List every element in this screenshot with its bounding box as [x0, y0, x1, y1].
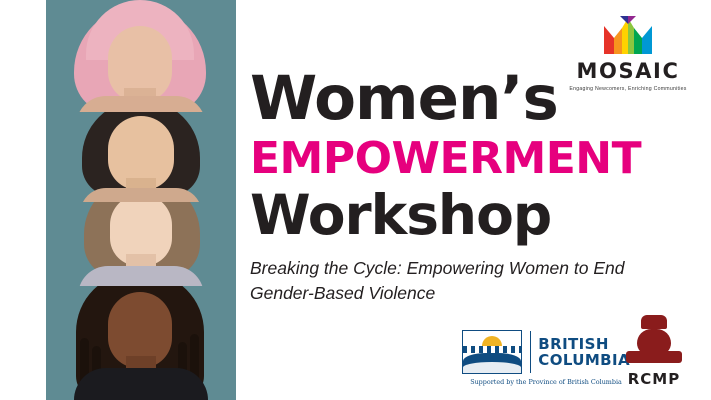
bc-wave-highlight-shape	[463, 362, 521, 373]
bc-support-text: Supported by the Province of British Col…	[462, 378, 630, 386]
rcmp-wordmark: RCMP	[615, 370, 693, 388]
rcmp-logo: RCMP	[615, 315, 693, 388]
shoulders-shape	[80, 188, 202, 202]
rcmp-crest-icon	[615, 315, 693, 369]
poster-canvas: Women’s EMPOWERMENT Workshop Breaking th…	[0, 0, 711, 400]
poster-title-line-2: EMPOWERMENT	[250, 136, 641, 182]
group-portrait-photo	[46, 0, 236, 400]
shoulders-shape	[78, 266, 204, 286]
british-columbia-logo: BRITISH COLUMBIA Supported by the Provin…	[462, 330, 630, 386]
bc-crest-icon	[462, 330, 522, 374]
mosaic-tagline: Engaging Newcomers, Enriching Communitie…	[563, 86, 693, 92]
shoulders-shape	[76, 96, 206, 112]
mosaic-mark-icon	[563, 12, 693, 56]
rcmp-crown-shape	[641, 315, 667, 329]
mosaic-wordmark: MOSAIC	[563, 59, 693, 83]
bc-sun-shape	[482, 336, 502, 346]
poster-title-line-1: Women’s	[250, 68, 558, 130]
content-area: Women’s EMPOWERMENT Workshop Breaking th…	[240, 0, 711, 400]
poster-subtitle: Breaking the Cycle: Empowering Women to …	[250, 256, 680, 306]
shoulders-shape	[74, 368, 208, 400]
poster-title-line-3: Workshop	[250, 186, 551, 244]
portrait-woman-4	[46, 268, 236, 400]
bc-stripes-shape	[463, 346, 521, 353]
mosaic-logo: MOSAIC Engaging Newcomers, Enriching Com…	[563, 12, 693, 92]
portrait-woman-1	[46, 0, 236, 112]
rcmp-scroll-shape	[626, 351, 682, 363]
bc-logo-row: BRITISH COLUMBIA	[462, 330, 630, 374]
